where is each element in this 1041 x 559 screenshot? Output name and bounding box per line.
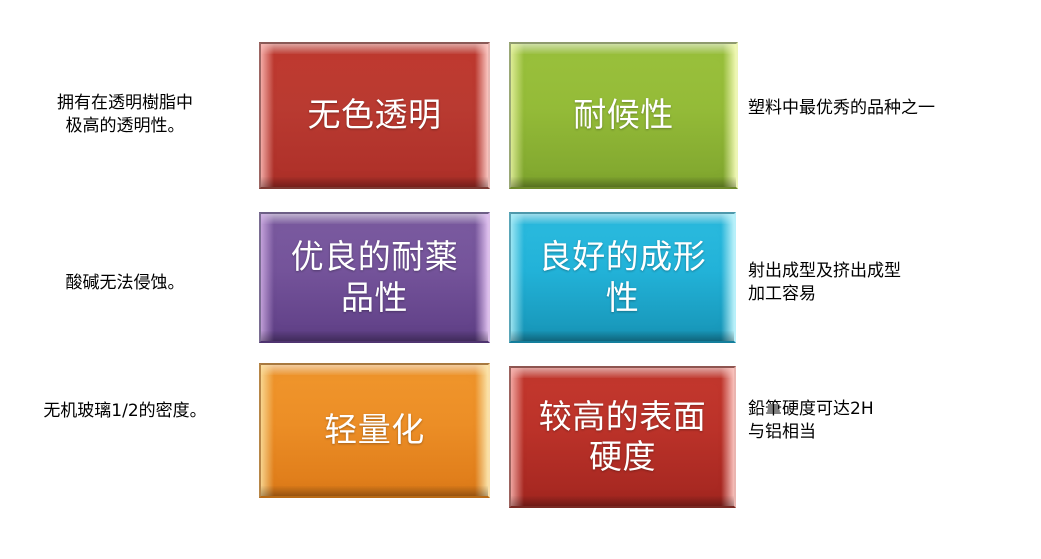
property-box-label: 耐候性 bbox=[559, 95, 688, 135]
property-box-label: 较高的表面硬度 bbox=[511, 397, 734, 478]
property-box-label: 轻量化 bbox=[310, 410, 439, 450]
caption-left-row-1: 拥有在透明樹脂中 极高的透明性。 bbox=[0, 92, 250, 138]
property-box-label: 良好的成形性 bbox=[511, 237, 734, 318]
property-box-lightweight[interactable]: 轻量化 bbox=[259, 363, 490, 498]
caption-left-row-3: 无机玻璃1/2的密度。 bbox=[0, 400, 250, 423]
property-box-label: 优良的耐薬品性 bbox=[261, 237, 488, 318]
bevel-highlight-right-icon bbox=[723, 44, 736, 187]
property-box-colorless-transparent[interactable]: 无色透明 bbox=[259, 42, 490, 189]
property-box-formability[interactable]: 良好的成形性 bbox=[509, 212, 736, 343]
property-box-chemical-resistance[interactable]: 优良的耐薬品性 bbox=[259, 212, 490, 343]
bevel-highlight-left-icon bbox=[511, 44, 524, 187]
caption-right-row-2: 射出成型及挤出成型 加工容易 bbox=[748, 260, 1038, 306]
bevel-highlight-right-icon bbox=[475, 44, 488, 187]
diagram-canvas: 拥有在透明樹脂中 极高的透明性。 无色透明 耐候性 塑料中最优秀的品种之一 酸碱… bbox=[0, 0, 1041, 559]
property-box-label: 无色透明 bbox=[294, 95, 456, 135]
property-box-surface-hardness[interactable]: 较高的表面硬度 bbox=[509, 366, 736, 508]
bevel-highlight-left-icon bbox=[261, 44, 274, 187]
caption-right-row-1: 塑料中最优秀的品种之一 bbox=[748, 97, 1038, 120]
caption-left-row-2: 酸碱无法侵蚀。 bbox=[0, 272, 250, 295]
property-box-weather-resistance[interactable]: 耐候性 bbox=[509, 42, 738, 189]
bevel-highlight-left-icon bbox=[261, 365, 274, 496]
caption-right-row-3: 鉛筆硬度可达2H 与铝相当 bbox=[748, 398, 1038, 444]
bevel-highlight-right-icon bbox=[475, 365, 488, 496]
